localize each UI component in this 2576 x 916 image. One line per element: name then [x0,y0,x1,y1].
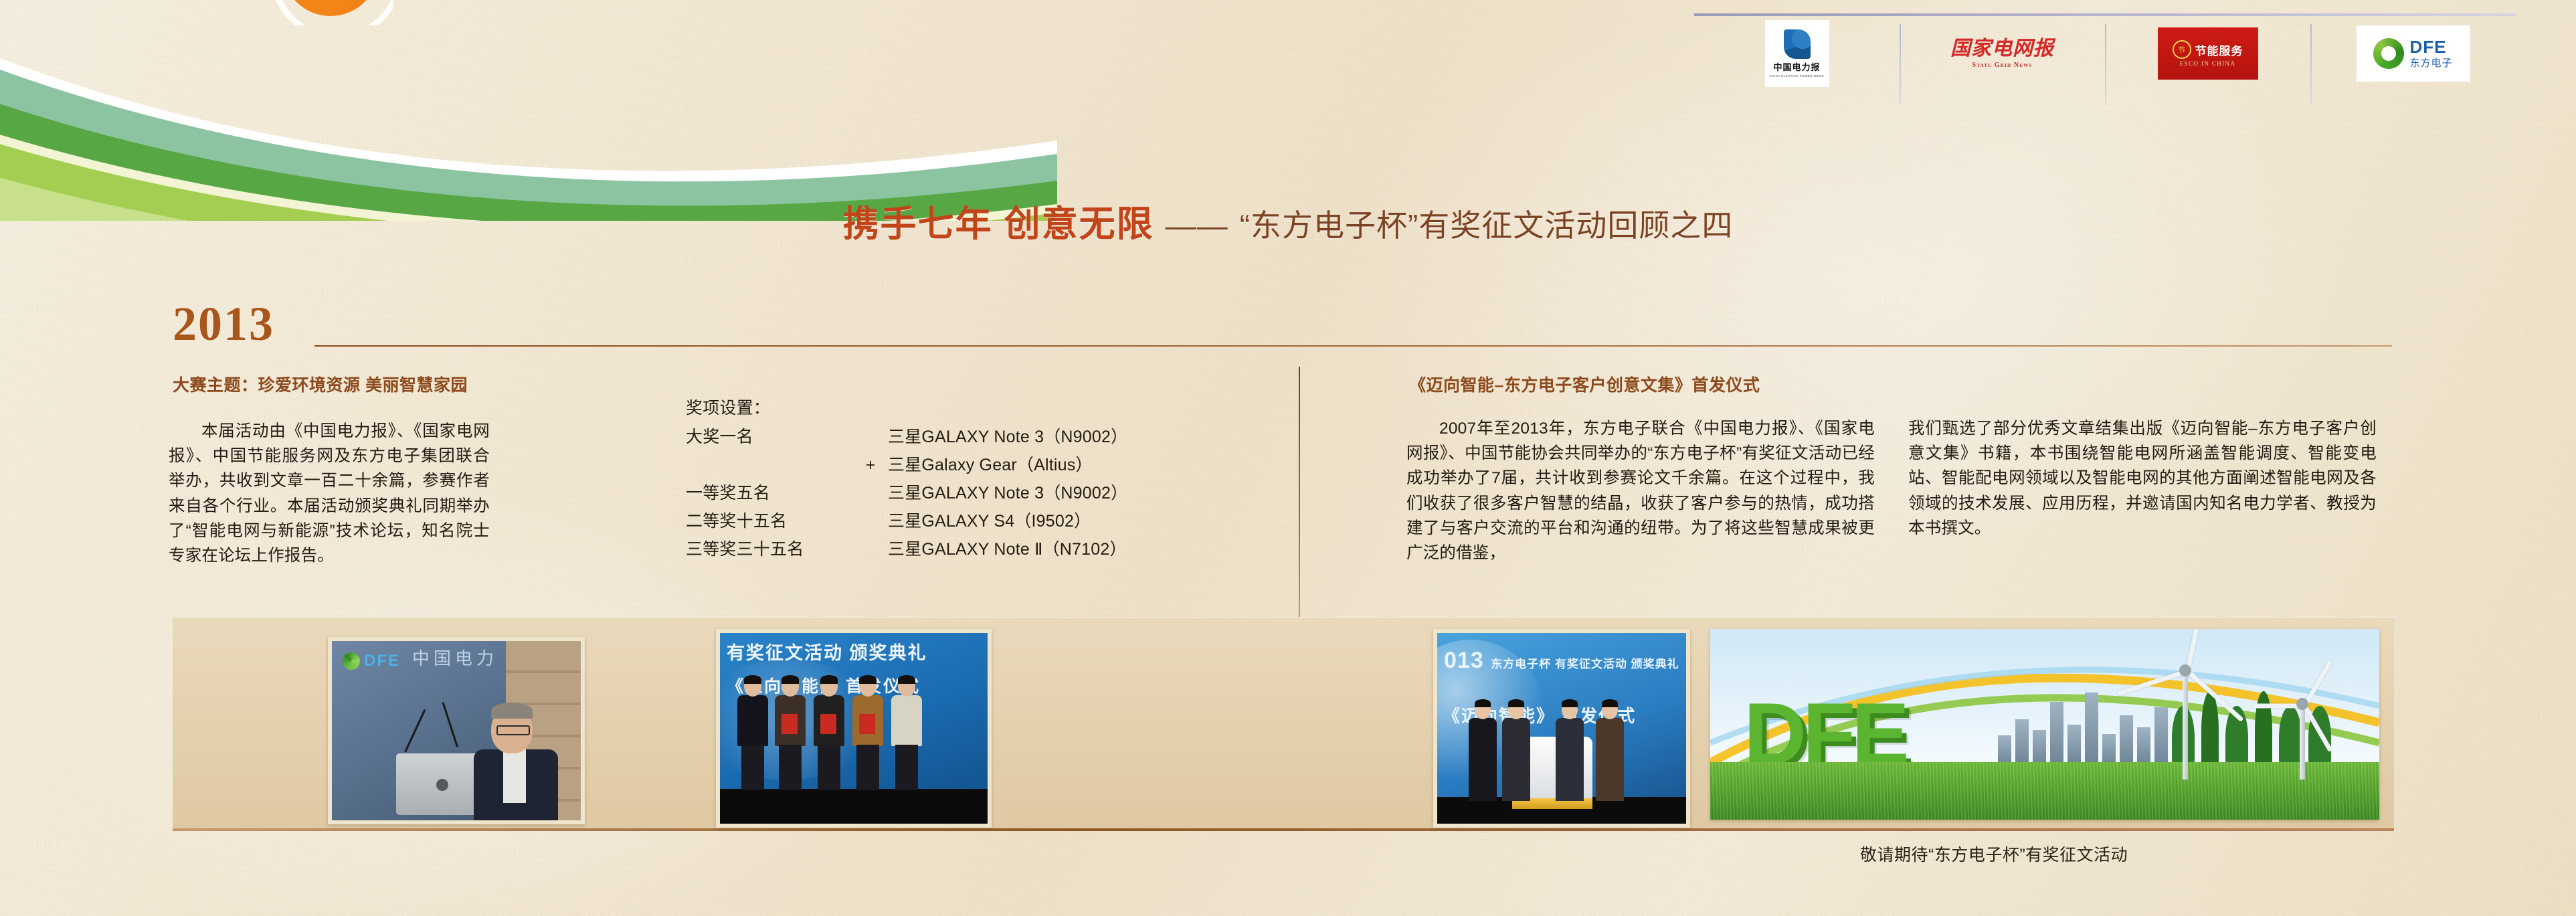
photo2-person [890,676,923,789]
award-prize: 三星Galaxy Gear（Altius） [888,453,1214,478]
esco-cn: 节能服务 [2195,41,2243,58]
photo1-banner-text: 中国电力 [412,645,498,670]
logo-esco-in-china: 节 节能服务 ESCO IN CHINA [2105,20,2310,87]
award-prize: 三星GALAXY Note 3（N9002） [888,481,1214,506]
award-level: 三等奖三十五名 [686,537,853,562]
page-title-dash: —— [1166,208,1228,243]
right-body-column-2: 我们甄选了部分优秀文章结集出版《迈向智能–东方电子客户创意文集》书籍，本书围绕智… [1908,416,2377,541]
photo-launch-ceremony: 013 东方电子杯 有奖征文活动 颁奖典礼 《迈向智能》 首发仪式 [1433,629,1690,828]
photo2-person [736,676,769,789]
state-grid-news-en: State Grid News [1972,62,2033,69]
dfe-en: DFE [2409,38,2446,56]
photo-speaker-at-podium: DFE 中国电力 [328,637,585,824]
year-heading: 2013 [173,300,274,348]
photo3-banner-sub: 东方电子杯 有奖征文活动 颁奖典礼 [1491,658,1679,670]
right-paragraph-1: 2007年至2013年，东方电子联合《中国电力报》、《国家电网报》、中国节能协会… [1406,416,1875,565]
photo3-person [1468,701,1497,801]
photo3-person [1595,701,1625,801]
awards-column: 奖项设置： 大奖一名 三星GALAXY Note 3（N9002） + 三星Ga… [686,396,1214,562]
left-body-column: 本届活动由《中国电力报》、《国家电网报》、中国节能服务网及东方电子集团联合举办，… [169,419,490,568]
esco-en: ESCO IN CHINA [2180,60,2236,67]
right-body-column-1: 2007年至2013年，东方电子联合《中国电力报》、《国家电网报》、中国节能协会… [1406,416,1875,565]
right-section-heading: 《迈向智能–东方电子客户创意文集》首发仪式 [1409,372,1760,396]
awards-table: 大奖一名 三星GALAXY Note 3（N9002） + 三星Galaxy G… [686,425,1214,562]
photo4-wind-turbine [2252,679,2353,780]
china-power-news-mark-icon [1784,29,1811,59]
contest-theme: 大赛主题：珍爱环境资源 美丽智慧家园 [173,372,468,396]
partner-logo-bar: 中国电力报 CHINA ELECTRIC POWER NEWS 国家电网报 St… [1686,0,2529,94]
dfe-swirl-icon [343,652,360,670]
award-prize: 三星GALAXY S4（I9502） [888,509,1214,534]
footer-note: 敬请期待“东方电子杯”有奖征文活动 [1860,842,2128,866]
sun-icon [268,0,393,25]
award-level: 一等奖五名 [686,481,853,506]
column-divider [1299,367,1300,629]
dfe-swirl-icon [2373,38,2404,69]
china-power-news-cn: 中国电力报 [1773,60,1820,73]
right-paragraph-2: 我们甄选了部分优秀文章结集出版《迈向智能–东方电子客户创意文集》书籍，本书围绕智… [1908,416,2377,541]
esco-badge-icon: 节 [2173,40,2191,59]
photo4-wind-turbine [2118,639,2252,780]
photo2-person [773,676,807,789]
photo3-person [1501,701,1531,801]
left-body-paragraph: 本届活动由《中国电力报》、《国家电网报》、中国节能服务网及东方电子集团联合举办，… [169,419,490,568]
china-power-news-en: CHINA ELECTRIC POWER NEWS [1770,74,1825,78]
page-title-sub: “东方电子杯”有奖征文活动回顾之四 [1240,208,1734,243]
photo2-person [851,676,885,789]
logo-bar-rule [1694,13,2516,16]
photo3-person [1555,701,1584,801]
photo2-person [812,676,846,789]
green-swoosh-decoration [0,0,1057,221]
award-plus: + [853,453,888,478]
photo-dfe-green-landscape: DFE [1710,629,2379,820]
state-grid-news-cn: 国家电网报 [1950,38,2054,60]
page-title: 携手七年 创意无限 —— “东方电子杯”有奖征文活动回顾之四 [0,206,2576,242]
photo2-banner-line1: 有奖征文活动 颁奖典礼 [727,638,927,664]
award-level: 二等奖十五名 [686,509,853,534]
award-level: 大奖一名 [686,425,853,450]
photo-group-award: 有奖征文活动 颁奖典礼 《迈向智能》 首发仪式 [716,629,992,828]
photo3-banner-line1: 013 东方电子杯 有奖征文活动 颁奖典礼 [1444,648,1679,674]
dfe-cn: 东方电子 [2409,56,2452,70]
page-title-main: 携手七年 创意无限 [843,204,1154,244]
poster-page: 中国电力报 CHINA ELECTRIC POWER NEWS 国家电网报 St… [0,0,2576,916]
awards-title: 奖项设置： [686,396,1214,421]
year-underline [314,345,2392,347]
logo-china-power-news: 中国电力报 CHINA ELECTRIC POWER NEWS [1694,20,1900,87]
photo1-dfe-label: DFE [364,652,400,670]
award-prize: 三星GALAXY Note 3（N9002） [888,425,1214,450]
logo-state-grid-news: 国家电网报 State Grid News [1900,20,2105,87]
award-prize: 三星GALAXY Note Ⅱ（N7102） [888,537,1214,562]
logo-dfe: DFE 东方电子 [2310,20,2516,87]
